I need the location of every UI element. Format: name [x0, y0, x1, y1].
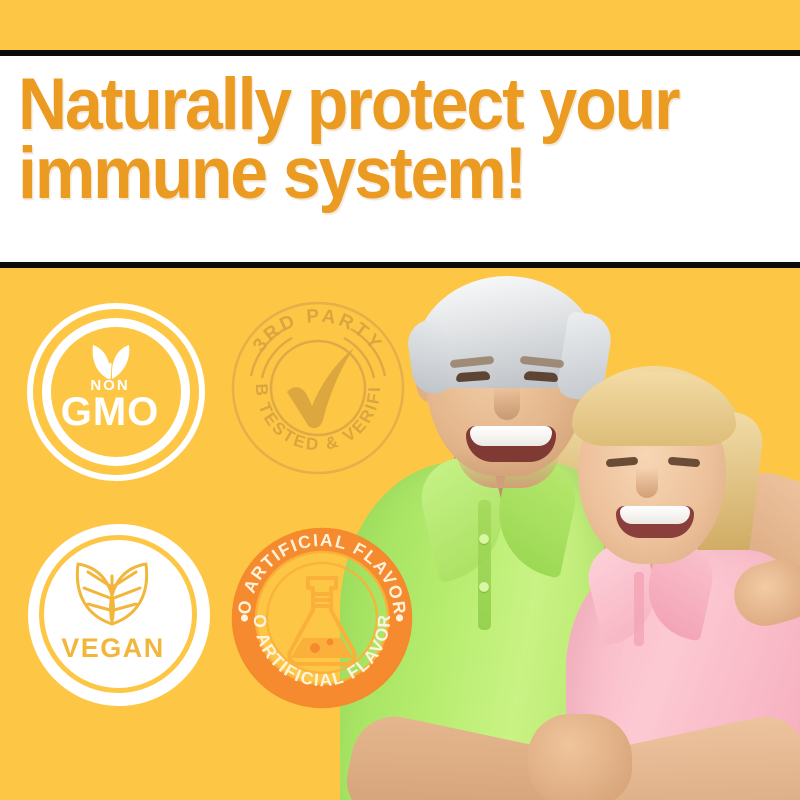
lab-top-arc-text: 3RD PARTY — [249, 306, 387, 356]
vegan-badge: VEGAN — [28, 524, 210, 706]
flavors-dot-right — [396, 614, 403, 621]
woman-nose — [636, 468, 658, 498]
flask-bubble-1 — [310, 643, 320, 653]
woman-shirt-placket — [634, 572, 644, 646]
man-shirt-placket — [478, 500, 491, 630]
two-leaves-icon — [64, 550, 160, 630]
headline-band: Naturally protect your immune system! — [0, 50, 800, 268]
page-title: Naturally protect your immune system! — [18, 70, 734, 209]
no-artificial-flavors-badge: NO ARTIFICIAL FLAVORS NO ARTIFICIAL FLAV… — [232, 528, 412, 708]
non-gmo-badge: NON GMO — [27, 303, 205, 481]
man-shirt-button-bottom — [479, 582, 489, 592]
man-teeth — [470, 426, 552, 446]
clasped-hands — [528, 714, 632, 800]
man-shirt-button-top — [479, 534, 489, 544]
man-nose — [494, 386, 520, 420]
erlenmeyer-flask-icon — [289, 578, 354, 664]
woman-teeth — [620, 506, 690, 524]
non-gmo-main-text: GMO — [33, 392, 187, 432]
promotional-banner: 3RD PARTY LAB TESTED & VERIFIED — [0, 0, 800, 800]
vegan-main-text: VEGAN — [34, 633, 192, 664]
flask-bubble-2 — [327, 639, 334, 646]
woman-fringe — [572, 372, 736, 446]
third-party-lab-tested-badge: 3RD PARTY LAB TESTED & VERIFIED — [230, 300, 406, 476]
checkmark-icon — [287, 348, 354, 428]
sprout-leaves-icon — [83, 335, 139, 381]
flavors-dot-left — [241, 614, 248, 621]
